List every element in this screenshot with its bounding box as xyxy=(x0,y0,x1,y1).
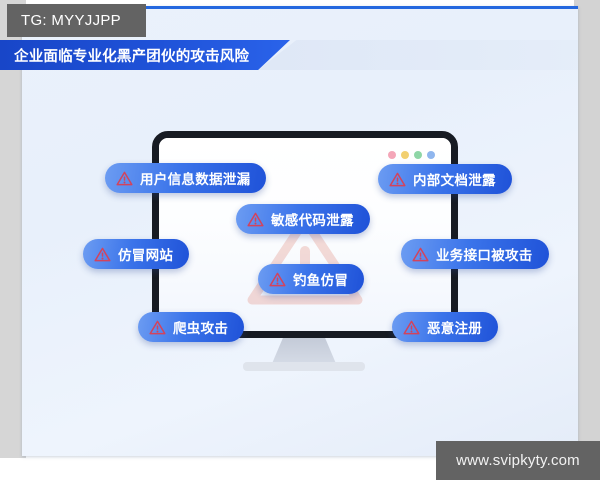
app-dots-group xyxy=(388,151,435,159)
app-dot-green-icon xyxy=(414,151,422,159)
page-title: 企业面临专业化黑产团伙的攻击风险 xyxy=(0,45,249,66)
warning-triangle-icon xyxy=(412,247,429,262)
app-dot-yellow-icon xyxy=(401,151,409,159)
risk-pill-crawler-attack[interactable]: 爬虫攻击 xyxy=(138,312,244,342)
risk-pill-label: 仿冒网站 xyxy=(118,244,173,264)
monitor-stand-base xyxy=(243,362,365,371)
site-watermark: www.svipkyty.com xyxy=(436,441,600,480)
tg-handle-text: TG: MYYJJPP xyxy=(21,12,121,29)
risk-pill-label: 爬虫攻击 xyxy=(173,317,228,337)
risk-pill-fake-website[interactable]: 仿冒网站 xyxy=(83,239,189,269)
risk-pill-label: 钓鱼仿冒 xyxy=(293,269,348,289)
risk-pill-user-data-leak[interactable]: 用户信息数据泄漏 xyxy=(105,163,266,193)
warning-triangle-icon xyxy=(149,320,166,335)
warning-triangle-icon xyxy=(116,171,133,186)
app-dot-blue-icon xyxy=(427,151,435,159)
risk-pill-sensitive-code-leak[interactable]: 敏感代码泄露 xyxy=(236,204,370,234)
risk-pill-label: 业务接口被攻击 xyxy=(436,244,533,264)
warning-triangle-icon xyxy=(403,320,420,335)
app-dot-pink-icon xyxy=(388,151,396,159)
title-banner-shape: 企业面临专业化黑产团伙的攻击风险 xyxy=(0,40,290,70)
title-banner: 企业面临专业化黑产团伙的攻击风险 xyxy=(0,40,290,70)
risk-pill-label: 恶意注册 xyxy=(427,317,482,337)
risk-pill-internal-doc-leak[interactable]: 内部文档泄露 xyxy=(378,164,512,194)
warning-triangle-icon xyxy=(269,272,286,287)
warning-triangle-icon xyxy=(94,247,111,262)
warning-triangle-icon xyxy=(247,212,264,227)
risk-pill-label: 用户信息数据泄漏 xyxy=(140,168,250,188)
slide-page: 企业面临专业化黑产团伙的攻击风险 TG: MYYJJPP xyxy=(0,0,600,480)
tg-handle-tag: TG: MYYJJPP xyxy=(7,4,146,37)
risk-pill-label: 敏感代码泄露 xyxy=(271,209,354,229)
risk-pill-api-attack[interactable]: 业务接口被攻击 xyxy=(401,239,549,269)
banner-tail-stripe xyxy=(258,40,578,70)
risk-pill-phishing[interactable]: 钓鱼仿冒 xyxy=(258,264,364,294)
site-watermark-text: www.svipkyty.com xyxy=(456,452,580,469)
risk-pill-label: 内部文档泄露 xyxy=(413,169,496,189)
warning-triangle-icon xyxy=(389,172,406,187)
risk-pill-malicious-registration[interactable]: 恶意注册 xyxy=(392,312,498,342)
